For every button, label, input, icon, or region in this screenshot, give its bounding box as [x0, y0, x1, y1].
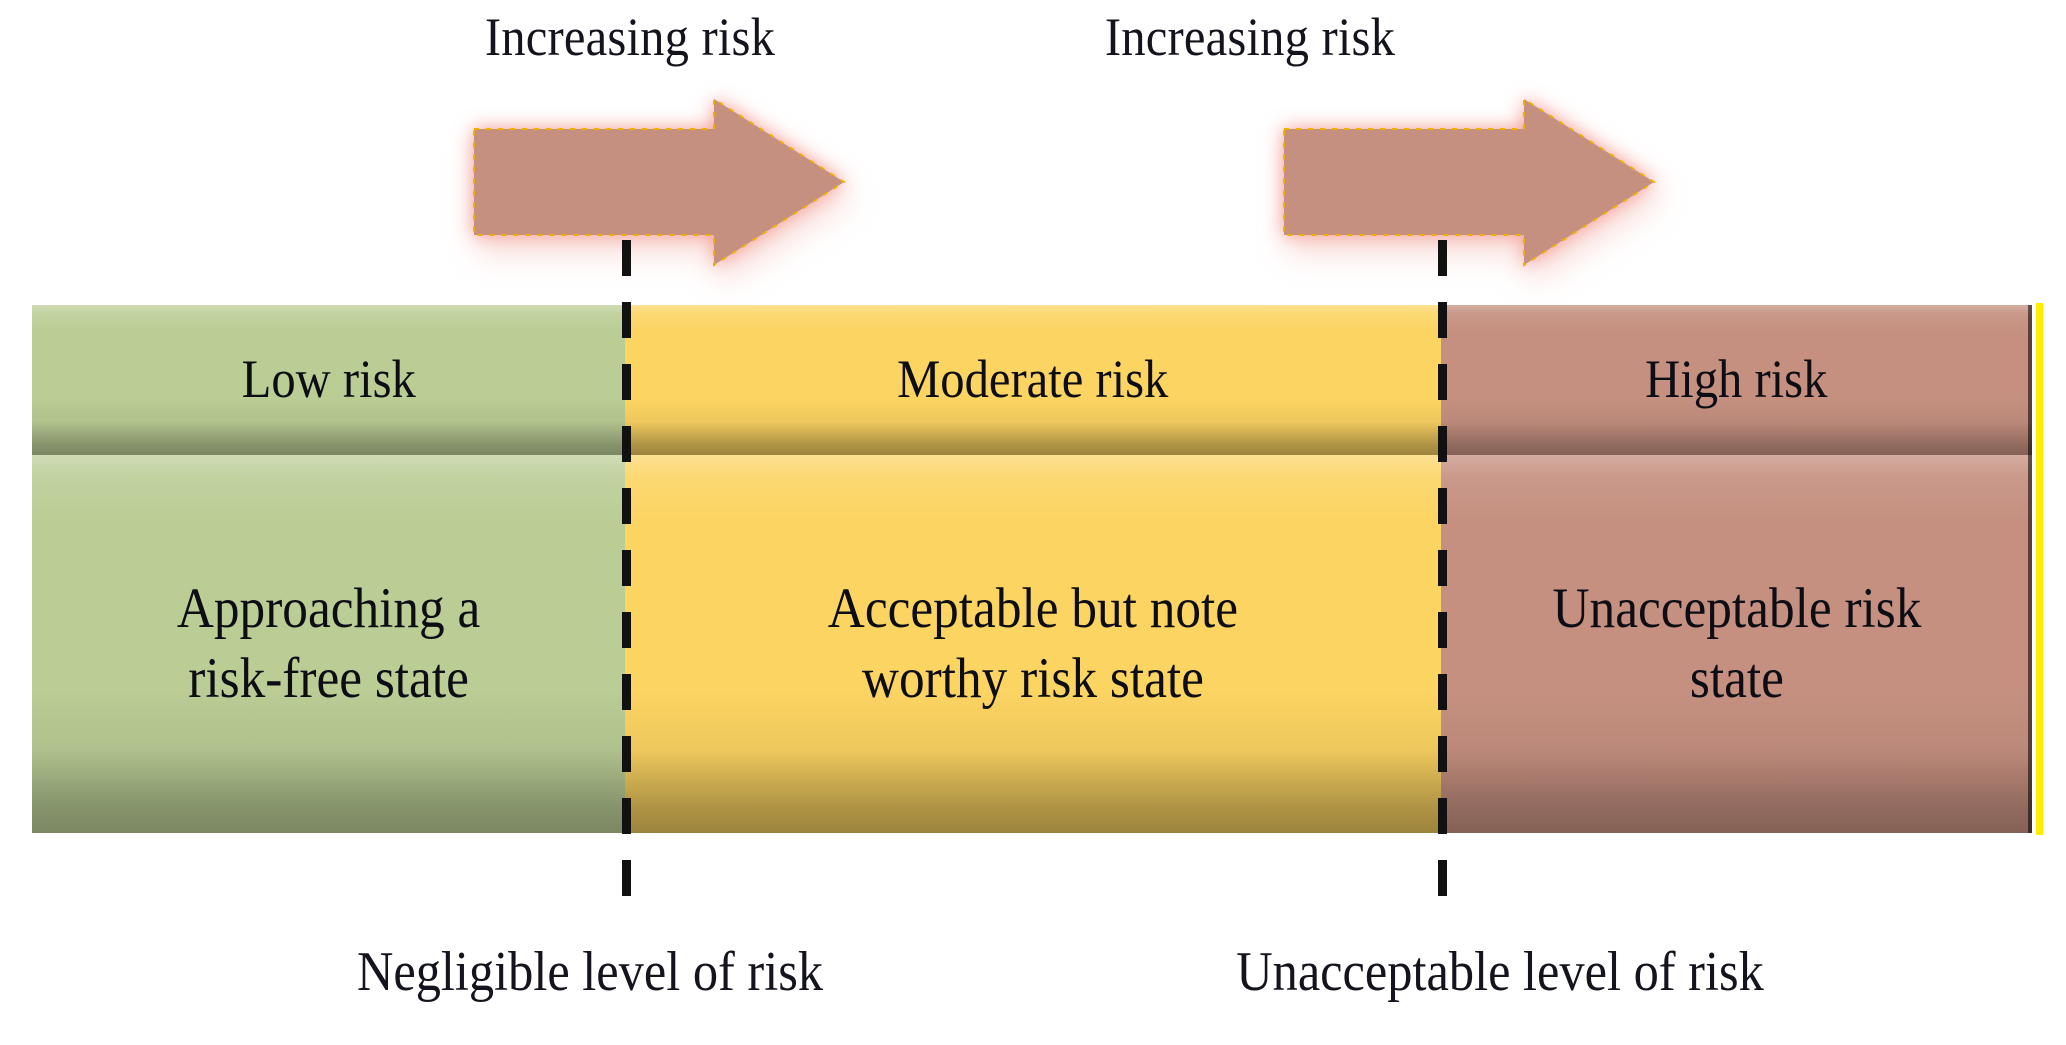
negligible-level-of-risk-label: Negligible level of risk	[185, 940, 995, 1004]
right-arrow-icon-left	[452, 95, 852, 270]
low-risk-description-line1: Approaching a	[177, 574, 480, 644]
low-risk-description: Approaching a risk-free state	[177, 574, 480, 713]
boundary-line-negligible	[622, 240, 631, 918]
cell-moderate-risk-heading: Moderate risk	[625, 305, 1441, 455]
unacceptable-level-of-risk-label: Unacceptable level of risk	[1050, 940, 1950, 1004]
moderate-risk-heading: Moderate risk	[897, 347, 1168, 413]
risk-band-matrix: Low risk Moderate risk High risk Approac…	[32, 305, 2032, 833]
low-risk-description-line2: risk-free state	[177, 644, 480, 714]
low-risk-heading: Low risk	[241, 347, 415, 413]
boundary-line-unacceptable	[1438, 240, 1447, 918]
moderate-risk-description-line2: worthy risk state	[828, 644, 1238, 714]
high-risk-heading: High risk	[1645, 347, 1827, 413]
cell-high-risk-description: Unacceptable risk state	[1441, 455, 2032, 833]
risk-heading-row: Low risk Moderate risk High risk	[32, 305, 2032, 455]
risk-description-row: Approaching a risk-free state Acceptable…	[32, 455, 2032, 833]
cell-low-risk-heading: Low risk	[32, 305, 625, 455]
increasing-risk-label-left: Increasing risk	[333, 6, 927, 68]
high-risk-description-line2: state	[1552, 644, 1921, 714]
high-risk-description-line1: Unacceptable risk	[1552, 574, 1921, 644]
moderate-risk-description: Acceptable but note worthy risk state	[828, 574, 1238, 713]
high-risk-description: Unacceptable risk state	[1552, 574, 1921, 713]
cell-low-risk-description: Approaching a risk-free state	[32, 455, 625, 833]
right-arrow-icon-right	[1262, 95, 1662, 270]
risk-spectrum-diagram: Increasing risk Increasing risk	[0, 0, 2066, 1045]
moderate-risk-description-line1: Acceptable but note	[828, 574, 1238, 644]
cell-high-risk-heading: High risk	[1441, 305, 2032, 455]
increasing-risk-label-right: Increasing risk	[953, 6, 1547, 68]
right-edge-rule	[2036, 303, 2043, 835]
cell-moderate-risk-description: Acceptable but note worthy risk state	[625, 455, 1441, 833]
